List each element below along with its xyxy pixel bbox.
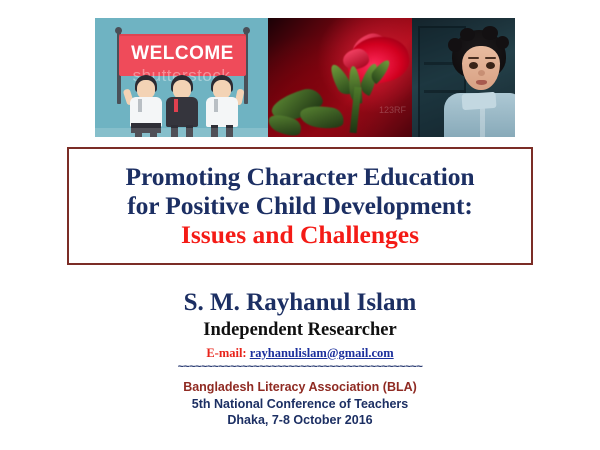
eye-icon [486,62,495,69]
nose-icon [478,70,485,76]
welcome-illustration-image: WELCOME shutterstock [95,18,268,137]
presentation-title-slide: WELCOME shutterstock [0,0,600,450]
title-line-2: for Positive Child Development: [127,191,473,220]
eye-icon [469,62,478,69]
affiliation-conference: 5th National Conference of Teachers [0,396,600,413]
author-name: S. M. Rayhanul Islam [0,288,600,318]
eyebrow-icon [485,57,496,59]
affiliation-block: Bangladesh Literacy Association (BLA) 5t… [0,379,600,429]
shirt-placket [480,107,485,137]
necktie-icon [174,99,178,112]
author-block: S. M. Rayhanul Islam Independent Researc… [0,288,600,429]
hair-curl [496,36,509,49]
email-label: E-mail: [206,346,246,360]
hair-curl [448,38,462,52]
collar-icon [214,99,218,112]
author-role: Independent Researcher [0,319,600,343]
hair-curl [460,28,475,41]
title-box: Promoting Character Education for Positi… [67,147,533,265]
mouth-icon [476,80,487,85]
red-rose-image: 123RF [268,18,412,137]
stock-photo-watermark: 123RF [379,105,406,115]
email-address-link[interactable]: rayhanulislam@gmail.com [250,346,394,360]
eyebrow-icon [468,57,479,59]
ground-line [95,128,268,137]
title-subtitle: Issues and Challenges [181,220,419,250]
author-email-line: E-mail: rayhanulislam@gmail.com [0,345,600,361]
hair-curl [482,26,498,40]
title-line-1: Promoting Character Education [126,162,475,191]
affiliation-venue-date: Dhaka, 7-8 October 2016 [0,412,600,429]
body-icon [206,97,238,127]
wavy-separator: ~~~~~~~~~~~~~~~~~~~~~~~~~~~~~~~~~~~~~~~~… [174,363,426,372]
affiliation-organization: Bangladesh Literacy Association (BLA) [0,379,600,396]
child-portrait-image [412,18,515,137]
header-image-banner: WELCOME shutterstock [95,18,515,137]
body-icon [166,97,198,127]
welcome-banner-text: WELCOME [119,43,246,65]
collar-icon [138,99,142,112]
shirt-collar [461,92,496,110]
banner-pole-knob-left [115,27,122,34]
banner-pole-knob-right [243,27,250,34]
